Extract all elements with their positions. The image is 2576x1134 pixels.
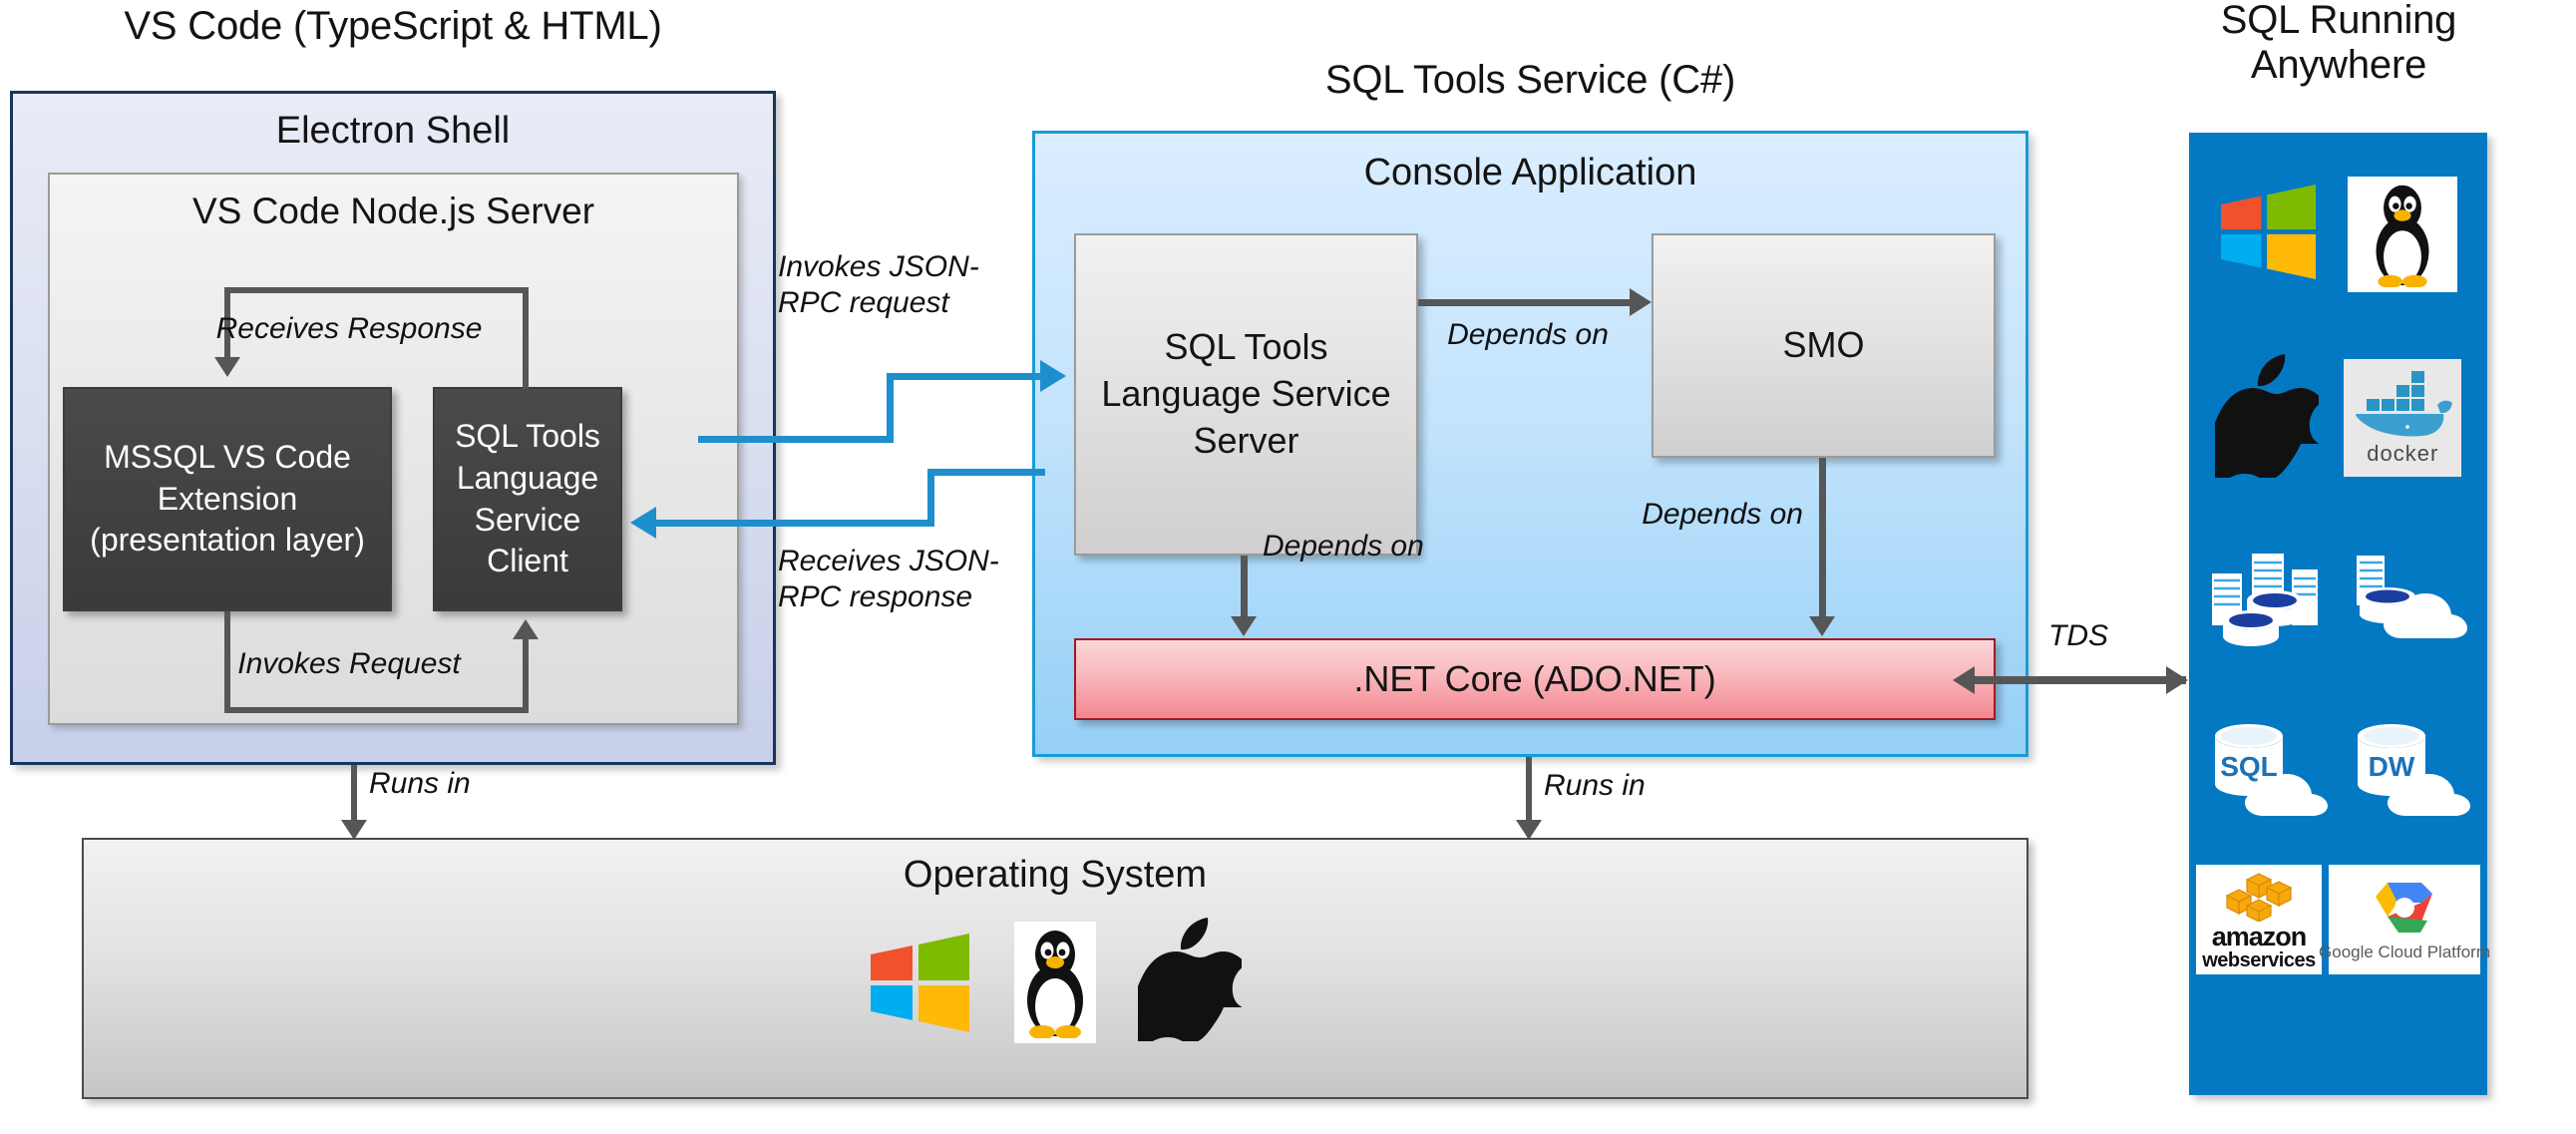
smo-to-netcore-label: Depends on: [1574, 497, 1803, 533]
receives-response-arrowhead: [214, 357, 240, 377]
invokes-request-label: Invokes Request: [150, 646, 549, 682]
tds-label: TDS: [1973, 618, 2184, 654]
sql-tools-language-service-client-box[interactable]: SQL Tools Language Service Client: [433, 387, 622, 611]
json-rpc-response-edge-seg3: [656, 520, 934, 527]
sql-tools-language-service-server-label: SQL Tools Language Service Server: [1084, 324, 1408, 464]
caption-sql-tools-service: SQL Tools Service (C#): [1032, 58, 2028, 103]
tds-arrowhead-left: [1953, 666, 1975, 694]
amazon-webservices-sublabel: webservices: [2202, 950, 2315, 970]
receives-response-label: Receives Response: [150, 311, 549, 347]
docker-whale-icon: docker: [2344, 359, 2461, 477]
docker-label: docker: [2367, 441, 2438, 467]
amazon-web-services-icon: amazon webservices: [2196, 865, 2322, 974]
sql-tools-language-service-client-label: SQL Tools Language Service Client: [445, 416, 610, 581]
caption-vscode: VS Code (TypeScript & HTML): [10, 4, 776, 49]
sql-db-label: SQL: [2220, 751, 2278, 782]
service-runs-in-edge-line: [1526, 757, 1532, 823]
apple-logo-icon: [1138, 918, 1242, 1046]
operating-system-title: Operating System: [84, 854, 2026, 897]
vscode-runs-in-edge-line: [351, 765, 357, 823]
electron-shell-title: Electron Shell: [13, 110, 773, 153]
sql-tools-language-service-server-box[interactable]: SQL Tools Language Service Server: [1074, 233, 1418, 556]
server-to-netcore-arrowhead: [1231, 616, 1257, 636]
tds-edge-line: [1975, 676, 2186, 684]
sql-running-anywhere-panel: docker: [2189, 133, 2487, 1095]
google-cloud-platform-icon: Google Cloud Platform: [2329, 865, 2480, 974]
mssql-vscode-extension-box[interactable]: MSSQL VS Code Extension (presentation la…: [63, 387, 392, 611]
server-cloud-icon: [2346, 539, 2473, 655]
operating-system-icon-row: [869, 918, 1242, 1046]
service-runs-in-arrowhead: [1516, 820, 1542, 840]
server-to-netcore-label: Depends on: [1263, 529, 1502, 565]
anywhere-row-servers: [2189, 515, 2487, 679]
console-application-title: Console Application: [1035, 152, 2025, 194]
gcp-label: Google Cloud Platform: [2319, 943, 2490, 962]
sql-database-cloud-icon: SQL: [2201, 714, 2333, 831]
datacenter-servers-icon: [2203, 539, 2331, 655]
dw-db-label: DW: [2369, 751, 2415, 782]
server-to-smo-label: Depends on: [1428, 317, 1628, 353]
vscode-node-server-title: VS Code Node.js Server: [50, 190, 737, 232]
diagram-canvas: VS Code (TypeScript & HTML) SQL Tools Se…: [0, 0, 2576, 1134]
smo-box[interactable]: SMO: [1652, 233, 1996, 458]
net-core-ado-net-box[interactable]: .NET Core (ADO.NET): [1074, 638, 1996, 720]
anywhere-row-cloud-vendors: amazon webservices Google Cloud Platform: [2189, 865, 2487, 984]
operating-system-container: Operating System: [82, 838, 2028, 1099]
json-rpc-response-label: Receives JSON- RPC response: [778, 544, 1057, 615]
server-to-netcore-edge-line: [1241, 556, 1248, 618]
anywhere-row-apple-docker: docker: [2189, 329, 2487, 507]
apple-logo-icon: [2215, 354, 2319, 483]
json-rpc-request-edge-seg3: [887, 373, 1046, 380]
server-to-smo-arrowhead: [1630, 288, 1652, 316]
smo-to-netcore-edge-line: [1819, 458, 1826, 618]
vscode-runs-in-label: Runs in: [369, 766, 568, 802]
tds-arrowhead-right: [2166, 666, 2188, 694]
receives-response-edge-horizontal: [224, 287, 529, 293]
linux-tux-icon: [2348, 177, 2457, 292]
json-rpc-request-edge-seg2: [887, 373, 894, 443]
anywhere-row-sql-dw: SQL DW: [2189, 687, 2487, 857]
json-rpc-request-edge-seg1: [698, 436, 894, 443]
net-core-ado-net-label: .NET Core (ADO.NET): [1353, 658, 1715, 700]
amazon-label: amazon: [2212, 924, 2307, 950]
json-rpc-response-edge-seg2: [927, 469, 934, 527]
json-rpc-response-arrowhead: [630, 507, 656, 539]
windows-logo-icon: [2219, 184, 2319, 284]
mssql-vscode-extension-label: MSSQL VS Code Extension (presentation la…: [75, 437, 380, 562]
json-rpc-request-arrowhead: [1040, 360, 1066, 392]
anywhere-row-platforms: [2189, 147, 2487, 321]
json-rpc-response-edge-seg1: [927, 469, 1045, 476]
windows-logo-icon: [869, 933, 972, 1032]
service-runs-in-label: Runs in: [1544, 768, 1743, 804]
caption-sql-running-anywhere: SQL Running Anywhere: [2174, 0, 2503, 88]
invokes-request-arrowhead: [513, 619, 539, 639]
smo-label: SMO: [1782, 322, 1864, 369]
vscode-runs-in-arrowhead: [341, 820, 367, 840]
invokes-request-edge-horizontal: [224, 707, 529, 713]
linux-tux-icon: [1014, 922, 1096, 1043]
dw-database-cloud-icon: DW: [2344, 714, 2475, 831]
server-to-smo-edge-line: [1418, 299, 1630, 306]
json-rpc-request-label: Invokes JSON- RPC request: [778, 249, 1047, 321]
smo-to-netcore-arrowhead: [1809, 616, 1835, 636]
